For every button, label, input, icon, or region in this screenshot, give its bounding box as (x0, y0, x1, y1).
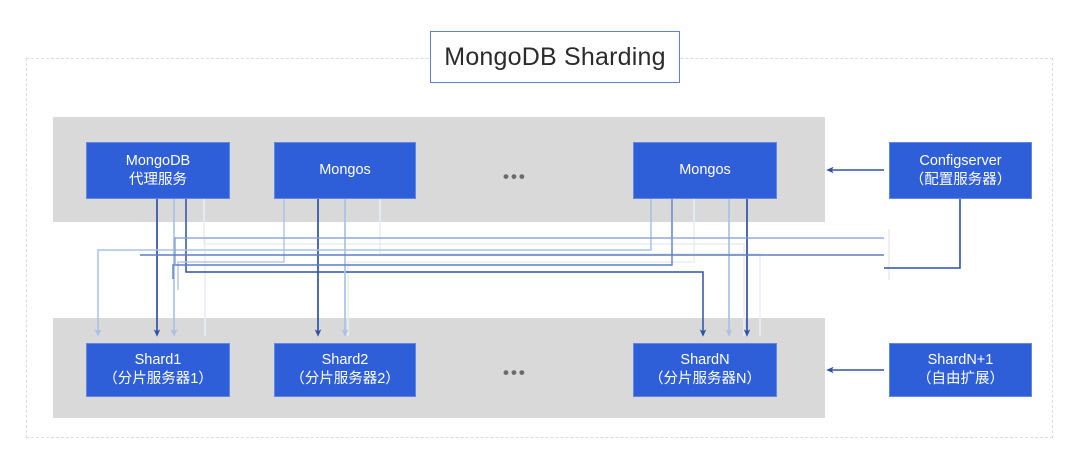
node-mongodb-proxy-line2: 代理服务 (129, 171, 187, 190)
diagram-title: MongoDB Sharding (430, 31, 680, 83)
diagram-title-text: MongoDB Sharding (444, 43, 665, 72)
node-mongos-n-line1: Mongos (679, 161, 731, 180)
node-shard-n-line2: （分片服务器N） (649, 370, 761, 389)
ellipsis-shard-tier: ••• (503, 364, 527, 381)
node-configserver-line1: Configserver (919, 152, 1001, 171)
node-mongodb-proxy[interactable]: MongoDB 代理服务 (86, 142, 230, 199)
node-shard-n[interactable]: ShardN （分片服务器N） (633, 343, 777, 397)
node-shard-1-line2: （分片服务器1） (103, 370, 213, 389)
node-shard-1-line1: Shard1 (135, 351, 182, 370)
node-shard-n-plus-1[interactable]: ShardN+1 （自由扩展） (889, 343, 1032, 397)
node-shard-n-plus-1-line1: ShardN+1 (928, 351, 994, 370)
node-configserver[interactable]: Configserver （配置服务器） (889, 142, 1032, 199)
node-mongos-n[interactable]: Mongos (633, 142, 777, 199)
node-shard-n-line1: ShardN (680, 351, 729, 370)
node-configserver-line2: （配置服务器） (910, 171, 1012, 190)
ellipsis-router-tier: ••• (503, 168, 527, 185)
node-shard-2-line2: （分片服务器2） (290, 370, 400, 389)
node-shard-2[interactable]: Shard2 （分片服务器2） (274, 343, 416, 397)
node-shard-2-line1: Shard2 (322, 351, 369, 370)
node-shard-n-plus-1-line2: （自由扩展） (917, 370, 1004, 389)
node-shard-1[interactable]: Shard1 （分片服务器1） (86, 343, 230, 397)
node-mongodb-proxy-line1: MongoDB (126, 152, 190, 171)
node-mongos-1[interactable]: Mongos (274, 142, 416, 199)
node-mongos-1-line1: Mongos (319, 161, 371, 180)
diagram-canvas: MongoDB Sharding MongoDB 代理服务 Mongos •••… (0, 0, 1080, 452)
